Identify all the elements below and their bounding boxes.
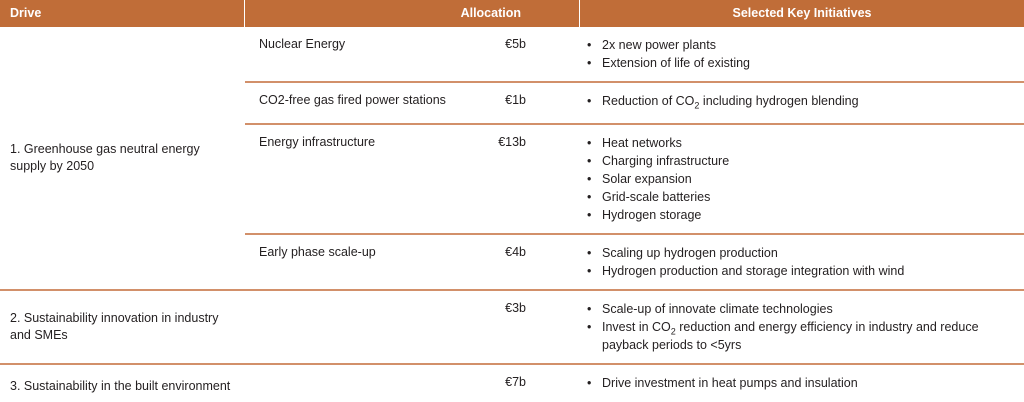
initiatives-cell: Heat networksCharging infrastructureSola…: [580, 125, 1024, 233]
table-row: €3bScale-up of innovate climate technolo…: [245, 291, 1024, 363]
table-row: Early phase scale-up€4bScaling up hydrog…: [245, 235, 1024, 289]
initiative-item: Invest in CO2 reduction and energy effic…: [580, 318, 1016, 354]
drive-cell: 3. Sustainability in the built environme…: [0, 365, 245, 402]
group-subrows: Nuclear Energy€5b2x new power plantsExte…: [245, 27, 1024, 289]
initiative-item: Reduction of CO2 including hydrogen blen…: [580, 92, 1016, 110]
initiative-list: Reduction of CO2 including hydrogen blen…: [580, 92, 1016, 110]
initiative-item: Heat networks: [580, 134, 1016, 152]
drive-cell: 2. Sustainability innovation in industry…: [0, 291, 245, 363]
initiative-list: Heat networksCharging infrastructureSola…: [580, 134, 1016, 224]
allocation-value: €3b: [505, 300, 526, 317]
initiative-item: Extension of life of existing: [580, 54, 1016, 72]
initiative-list: Scale-up of innovate climate technologie…: [580, 300, 1016, 354]
row-label-cell: Energy infrastructure€13b: [245, 125, 580, 233]
initiative-item: Charging infrastructure: [580, 152, 1016, 170]
row-label-cell: €3b: [245, 291, 580, 363]
table-row: Energy infrastructure€13bHeat networksCh…: [245, 125, 1024, 235]
row-label: Nuclear Energy: [259, 37, 345, 51]
table-row: CO2-free gas fired power stations€1bRedu…: [245, 83, 1024, 125]
row-label: CO2-free gas fired power stations: [259, 93, 446, 107]
allocation-value: €5b: [505, 36, 526, 53]
initiative-item: Scale-up of innovate climate technologie…: [580, 300, 1016, 318]
initiatives-cell: Drive investment in heat pumps and insul…: [580, 365, 1024, 402]
initiatives-cell: 2x new power plantsExtension of life of …: [580, 27, 1024, 81]
initiative-item: Hydrogen production and storage integrat…: [580, 262, 1016, 280]
initiatives-cell: Scaling up hydrogen productionHydrogen p…: [580, 235, 1024, 289]
table-body: 1. Greenhouse gas neutral energy supply …: [0, 27, 1024, 402]
row-label: Early phase scale-up: [259, 245, 376, 259]
column-header-allocation: Allocation: [245, 0, 580, 27]
allocation-value: €13b: [498, 134, 526, 151]
column-header-drive: Drive: [0, 0, 245, 27]
table-group: 1. Greenhouse gas neutral energy supply …: [0, 27, 1024, 291]
row-label: Energy infrastructure: [259, 135, 375, 149]
initiative-item: Scaling up hydrogen production: [580, 244, 1016, 262]
row-label-cell: €7b: [245, 365, 580, 402]
row-label-cell: CO2-free gas fired power stations€1b: [245, 83, 580, 123]
table-group: 3. Sustainability in the built environme…: [0, 365, 1024, 402]
initiatives-cell: Scale-up of innovate climate technologie…: [580, 291, 1024, 363]
initiative-item: Drive investment in heat pumps and insul…: [580, 374, 1016, 392]
table-header-row: Drive Allocation Selected Key Initiative…: [0, 0, 1024, 27]
group-subrows: €7bDrive investment in heat pumps and in…: [245, 365, 1024, 402]
initiative-item: Solar expansion: [580, 170, 1016, 188]
allocation-value: €4b: [505, 244, 526, 261]
column-header-initiatives: Selected Key Initiatives: [580, 0, 1024, 27]
allocation-table: Drive Allocation Selected Key Initiative…: [0, 0, 1024, 402]
allocation-value: €1b: [505, 92, 526, 109]
row-label-cell: Early phase scale-up€4b: [245, 235, 580, 289]
allocation-value: €7b: [505, 374, 526, 391]
initiative-item: 2x new power plants: [580, 36, 1016, 54]
table-row: €7bDrive investment in heat pumps and in…: [245, 365, 1024, 402]
initiative-list: Drive investment in heat pumps and insul…: [580, 374, 1016, 392]
initiatives-cell: Reduction of CO2 including hydrogen blen…: [580, 83, 1024, 123]
initiative-list: Scaling up hydrogen productionHydrogen p…: [580, 244, 1016, 280]
initiative-item: Grid-scale batteries: [580, 188, 1016, 206]
group-subrows: €3bScale-up of innovate climate technolo…: [245, 291, 1024, 363]
table-row: Nuclear Energy€5b2x new power plantsExte…: [245, 27, 1024, 83]
initiative-item: Hydrogen storage: [580, 206, 1016, 224]
table-group: 2. Sustainability innovation in industry…: [0, 291, 1024, 365]
initiative-list: 2x new power plantsExtension of life of …: [580, 36, 1016, 72]
drive-cell: 1. Greenhouse gas neutral energy supply …: [0, 27, 245, 289]
row-label-cell: Nuclear Energy€5b: [245, 27, 580, 81]
